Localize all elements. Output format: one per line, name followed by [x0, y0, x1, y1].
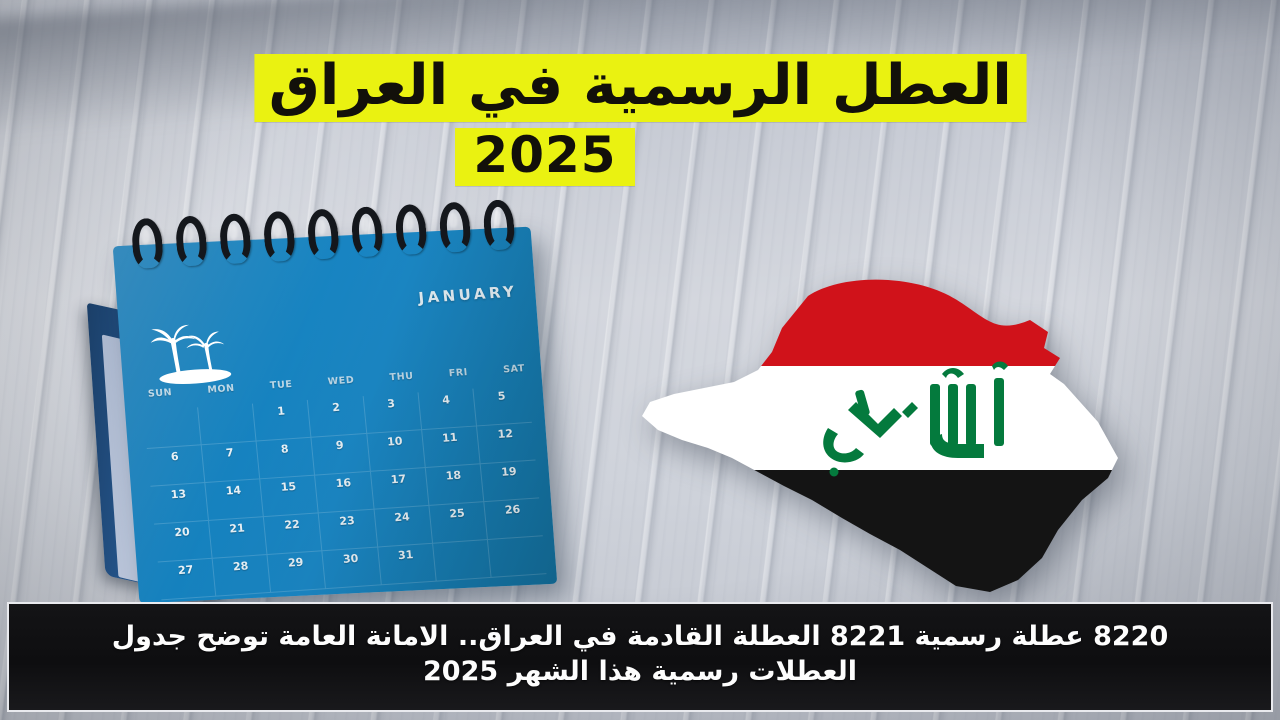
calendar-date-number: 8 [280, 442, 289, 455]
flag-stripe-black [612, 470, 1152, 602]
calendar-date-number: 4 [442, 393, 451, 406]
calendar-date-cell [198, 404, 257, 446]
calendar-date-cell: 6 [147, 445, 206, 487]
calendar-date-cell: 18 [426, 464, 485, 506]
calendar-date-number: 31 [397, 548, 414, 562]
calendar-date-cell: 12 [477, 423, 536, 465]
calendar-date-cell: 25 [429, 502, 488, 544]
spiral-ring [262, 210, 296, 262]
caption-line-1: 8220 عطلة رسمية 8221 العطلة القادمة في ا… [112, 621, 1169, 654]
calendar-date-number: 28 [232, 559, 249, 573]
calendar-date-number: 1 [277, 404, 286, 417]
calendar-date-number: 7 [225, 446, 234, 459]
calendar-date-number: 12 [497, 427, 514, 441]
flag-stripe-white [612, 366, 1152, 470]
calendar-date-cell: 28 [213, 555, 272, 597]
calendar-date-cell: 11 [422, 426, 481, 468]
calendar-date-number: 5 [497, 389, 506, 402]
calendar-date-cell: 1 [253, 400, 312, 442]
calendar-date-number: 25 [449, 507, 466, 521]
palm-tree-island-icon [144, 317, 242, 389]
calendar-date-cell [488, 536, 547, 578]
calendar-date-number: 16 [335, 476, 352, 490]
calendar-date-cell: 21 [209, 517, 268, 559]
calendar-day-headers: SUN MON TUE WED THU FRI SAT [147, 363, 525, 400]
calendar-date-cell [433, 540, 492, 582]
calendar-date-number: 20 [174, 525, 191, 539]
calendar-page: JANUARY [113, 227, 558, 604]
spiral-ring [218, 213, 252, 265]
calendar-date-cell: 23 [319, 510, 378, 552]
calendar-date-cell: 7 [202, 441, 261, 483]
calendar-date-number: 30 [342, 552, 359, 566]
calendar-date-cell: 20 [154, 521, 213, 563]
calendar-date-cell: 14 [206, 479, 265, 521]
promo-image: العطل الرسمية في العراق 2025 JANUARY [0, 0, 1280, 720]
flag-stripe-red [612, 262, 1152, 366]
calendar-date-cell: 8 [257, 438, 316, 480]
calendar-month-label: JANUARY [417, 282, 518, 307]
calendar-date-cell: 15 [261, 476, 320, 518]
calendar-date-number: 3 [387, 397, 396, 410]
spiral-ring [438, 201, 472, 253]
caption-line-2: العطلات رسمية هذا الشهر 2025 [423, 656, 857, 689]
calendar-date-cell: 29 [268, 551, 327, 593]
calendar-date-cell: 9 [312, 434, 371, 476]
day-header: FRI [448, 367, 468, 379]
spiral-ring [482, 199, 516, 251]
caption-bar: 8220 عطلة رسمية 8221 العطلة القادمة في ا… [7, 602, 1273, 712]
calendar-date-number: 18 [445, 469, 462, 483]
calendar-date-number: 6 [170, 450, 179, 463]
calendar-date-cell: 2 [308, 396, 367, 438]
calendar-date-number: 14 [225, 484, 242, 498]
calendar-date-cell: 26 [484, 498, 543, 540]
calendar-date-cell: 19 [481, 461, 540, 503]
calendar-date-cell: 22 [264, 513, 323, 555]
calendar-date-number: 11 [442, 431, 459, 445]
calendar-date-cell: 3 [363, 392, 422, 434]
spiral-ring [130, 217, 164, 269]
calendar-date-number: 27 [177, 563, 194, 577]
calendar-date-number: 19 [501, 465, 518, 479]
calendar-date-number: 17 [390, 472, 407, 486]
calendar-date-cell: 5 [473, 385, 532, 427]
calendar-date-number: 9 [335, 439, 344, 452]
day-header: SUN [147, 387, 172, 400]
day-header: THU [389, 371, 414, 384]
calendar-date-number: 23 [339, 514, 356, 528]
spiral-ring [306, 208, 340, 260]
desk-calendar: JANUARY [88, 198, 558, 598]
calendar-date-grid: 1234567891011121314151617181920212223242… [143, 385, 546, 600]
spiral-ring [174, 215, 208, 267]
calendar-date-cell [143, 407, 202, 449]
day-header: MON [207, 383, 235, 396]
calendar-date-number: 29 [287, 556, 304, 570]
day-header: WED [327, 375, 355, 388]
calendar-date-number: 21 [229, 522, 246, 536]
calendar-date-number: 13 [170, 487, 187, 501]
calendar-date-number: 2 [332, 401, 341, 414]
calendar-date-cell: 4 [418, 389, 477, 431]
calendar-date-number: 22 [284, 518, 301, 532]
day-header: SAT [503, 363, 526, 375]
calendar-date-cell: 27 [158, 559, 217, 601]
calendar-date-cell: 13 [151, 483, 210, 525]
spiral-ring [350, 206, 384, 258]
calendar-date-cell: 17 [371, 468, 430, 510]
iraq-map-flag [612, 262, 1152, 602]
calendar-date-cell: 31 [378, 544, 437, 586]
spiral-ring [394, 203, 428, 255]
day-header: TUE [270, 379, 293, 391]
calendar-date-cell: 24 [374, 506, 433, 548]
calendar-date-cell: 16 [316, 472, 375, 514]
calendar-date-number: 24 [394, 510, 411, 524]
calendar-date-number: 26 [504, 503, 521, 517]
calendar-date-number: 15 [280, 480, 297, 494]
calendar-date-cell: 10 [367, 430, 426, 472]
calendar-date-number: 10 [387, 435, 404, 449]
calendar-date-cell: 30 [323, 547, 382, 589]
